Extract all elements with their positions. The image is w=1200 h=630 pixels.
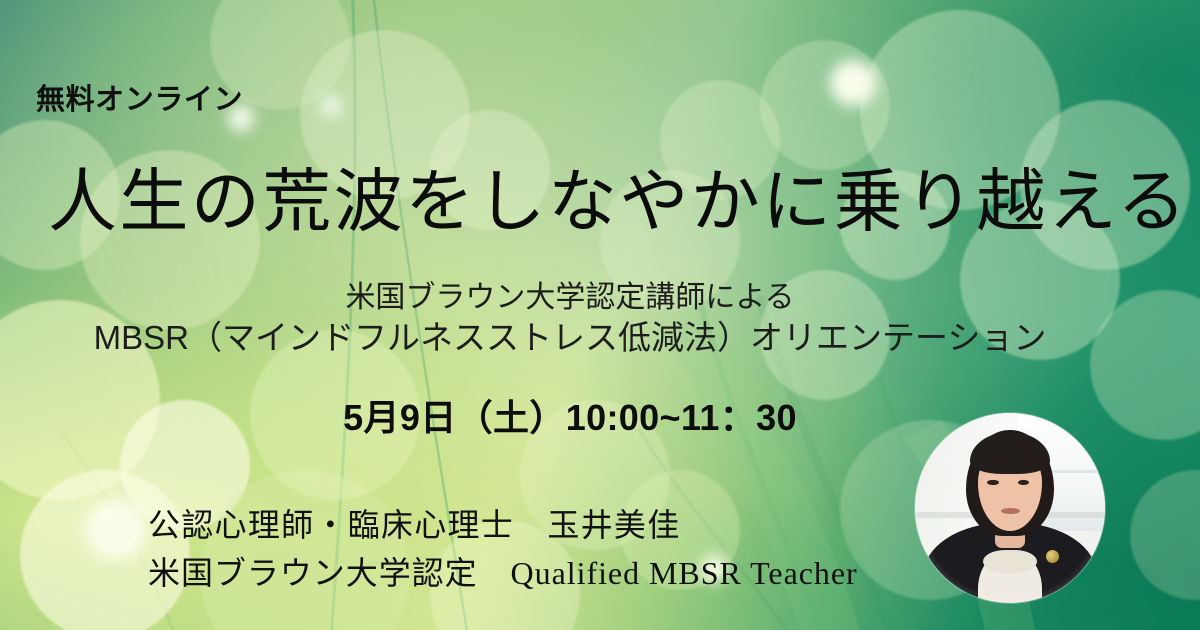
presenter-credentials-name: 公認心理師・臨床心理士 玉井美佳 bbox=[148, 500, 680, 546]
kicker-label: 無料オンライン bbox=[36, 76, 243, 118]
subtitle-line-2: MBSR（マインドフルネスストレス低減法）オリエンテーション bbox=[0, 311, 1140, 359]
event-poster: 無料オンライン 人生の荒波をしなやかに乗り越える 米国ブラウン大学認定講師による… bbox=[0, 0, 1200, 630]
page-title: 人生の荒波をしなやかに乗り越える bbox=[48, 168, 1189, 237]
subtitle-line-1: 米国ブラウン大学認定講師による bbox=[0, 272, 1140, 316]
presenter-portrait bbox=[915, 413, 1105, 603]
presenter-certification: 米国ブラウン大学認定 Qualified MBSR Teacher bbox=[148, 548, 858, 594]
portrait-edge-fade bbox=[915, 413, 1105, 603]
